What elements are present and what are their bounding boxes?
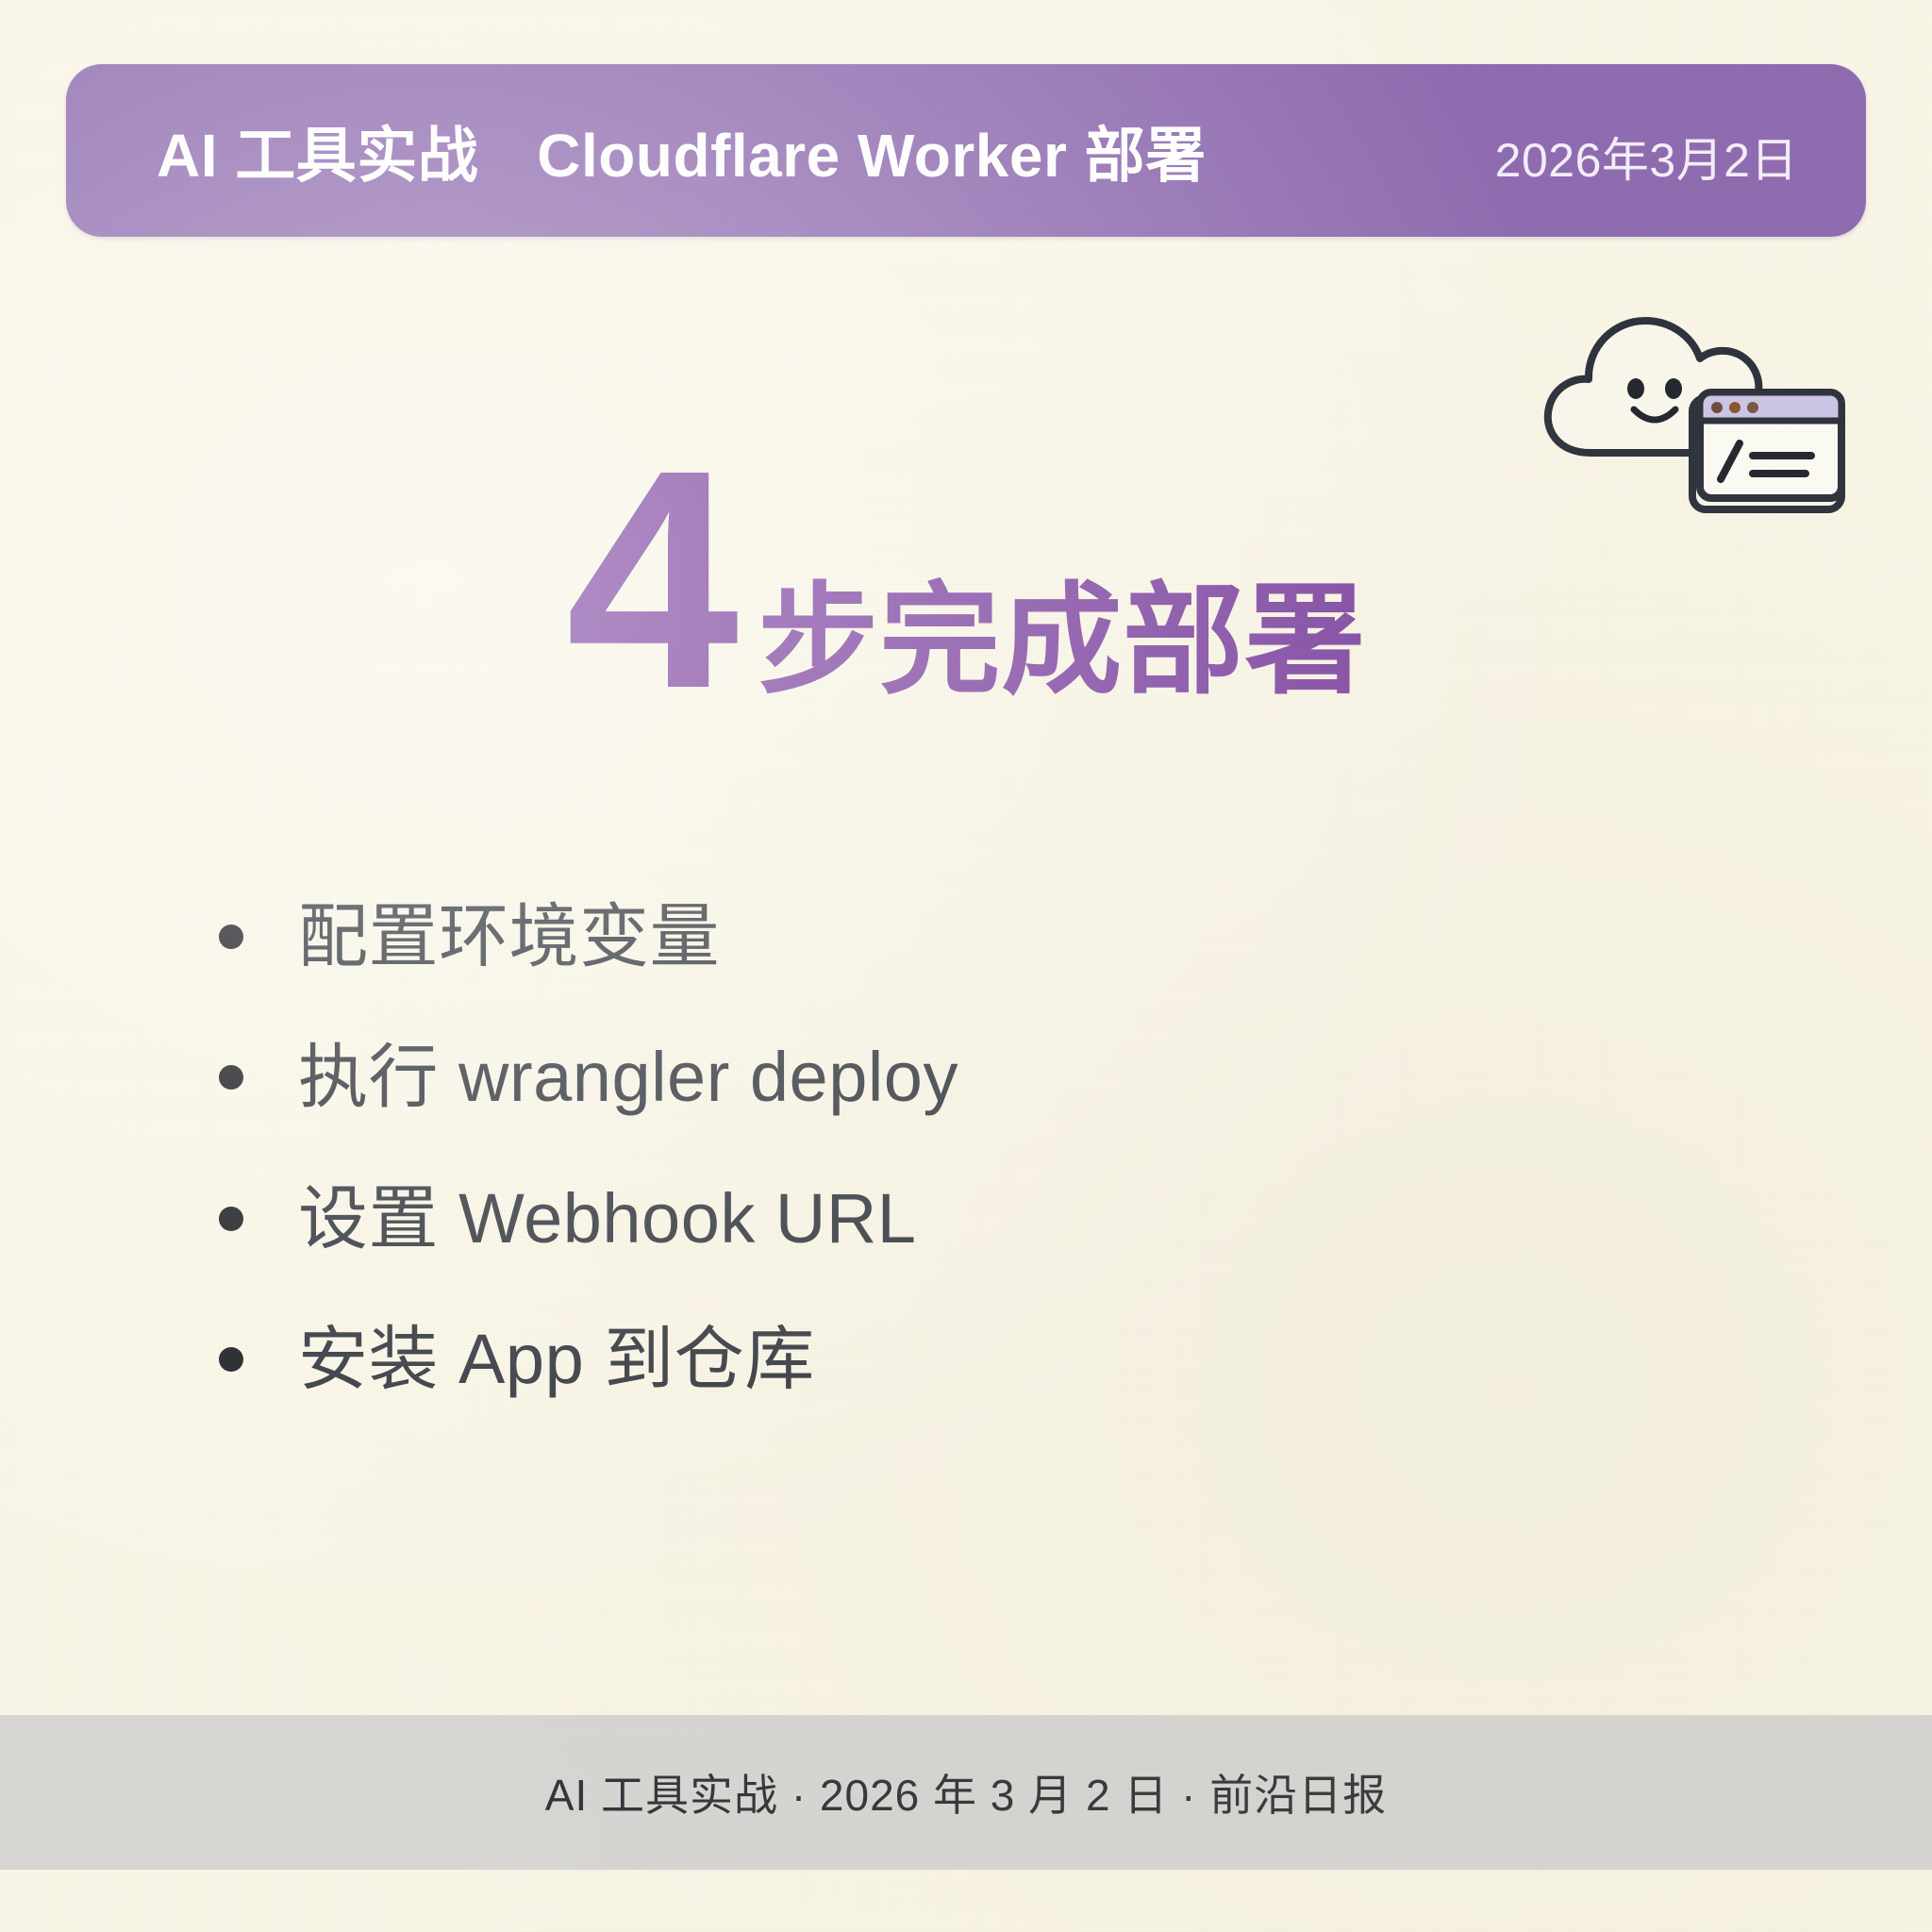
cloud-eye-left xyxy=(1627,378,1644,399)
footer-bar: AI 工具实战 · 2026 年 3 月 2 日 · 前沿日报 xyxy=(0,1715,1932,1870)
header-inner: AI 工具实战Cloudflare Worker 部署 2026年3月2日 xyxy=(66,108,1866,194)
bullet-dot-icon xyxy=(219,1065,243,1090)
hero-section: 4 步完成部署 xyxy=(0,406,1932,708)
bullet-dot-icon xyxy=(219,1207,243,1231)
list-item-label: 设置 Webhook URL xyxy=(298,1180,916,1257)
header-topic: Cloudflare Worker 部署 xyxy=(537,122,1206,190)
hero-headline: 步完成部署 xyxy=(758,581,1366,702)
header-kicker: AI 工具实战 xyxy=(157,122,478,190)
header-bar: AI 工具实战Cloudflare Worker 部署 2026年3月2日 xyxy=(66,64,1866,237)
bullet-dot-icon xyxy=(219,924,243,949)
list-item-label: 配置环境变量 xyxy=(298,898,720,974)
list-item: 设置 Webhook URL xyxy=(219,1180,1690,1257)
footer-text: AI 工具实战 · 2026 年 3 月 2 日 · 前沿日报 xyxy=(545,1761,1387,1824)
header-date: 2026年3月2日 xyxy=(1495,123,1798,191)
bullet-dot-icon xyxy=(219,1347,243,1372)
list-item: 配置环境变量 xyxy=(219,898,1690,974)
list-item: 执行 wrangler deploy xyxy=(219,1039,1690,1115)
cloud-eye-right xyxy=(1665,378,1682,399)
page-title: AI 工具实战Cloudflare Worker 部署 xyxy=(157,108,1207,194)
hero-number: 4 xyxy=(566,452,734,708)
list-item-label: 执行 wrangler deploy xyxy=(298,1039,958,1115)
steps-list: 配置环境变量 执行 wrangler deploy 设置 Webhook URL… xyxy=(219,898,1690,1398)
list-item-label: 安装 App 到仓库 xyxy=(298,1321,815,1397)
list-item: 安装 App 到仓库 xyxy=(219,1321,1690,1397)
